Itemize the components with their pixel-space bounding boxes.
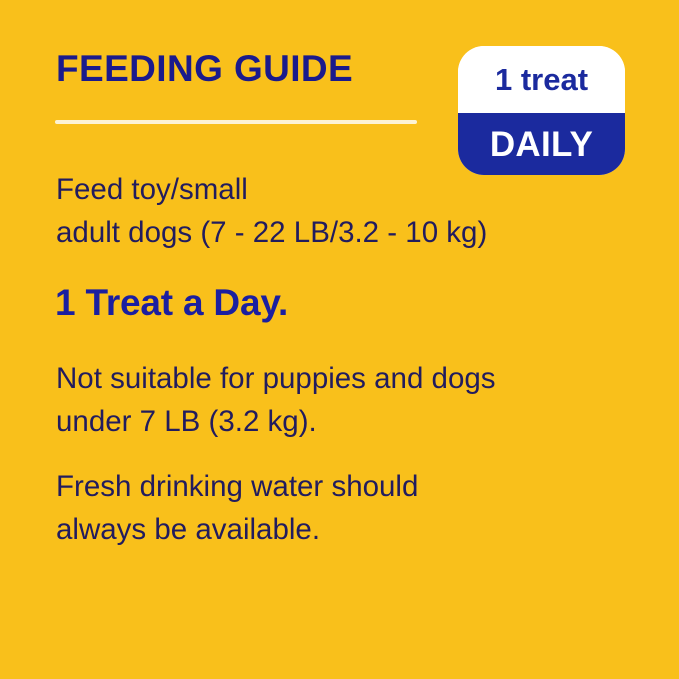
feeding-guide-panel: FEEDING GUIDE 1 treat DAILY Feed toy/sma… [0, 0, 679, 679]
treat-per-day-headline: 1 Treat a Day. [55, 283, 288, 324]
daily-dose-badge: 1 treat DAILY [458, 46, 625, 175]
header: FEEDING GUIDE 1 treat DAILY [0, 0, 679, 180]
page-title: FEEDING GUIDE [56, 50, 353, 87]
badge-frequency-label: DAILY [490, 127, 593, 162]
not-suitable-text: Not suitable for puppies and dogs under … [56, 357, 656, 443]
title-divider [55, 120, 417, 124]
badge-top-section: 1 treat [458, 46, 625, 113]
badge-bottom-section: DAILY [458, 113, 625, 175]
drinking-water-text: Fresh drinking water should always be av… [56, 465, 656, 551]
badge-treat-count-label: 1 treat [495, 64, 588, 95]
feeding-amount-text: Feed toy/small adult dogs (7 - 22 LB/3.2… [56, 168, 656, 254]
